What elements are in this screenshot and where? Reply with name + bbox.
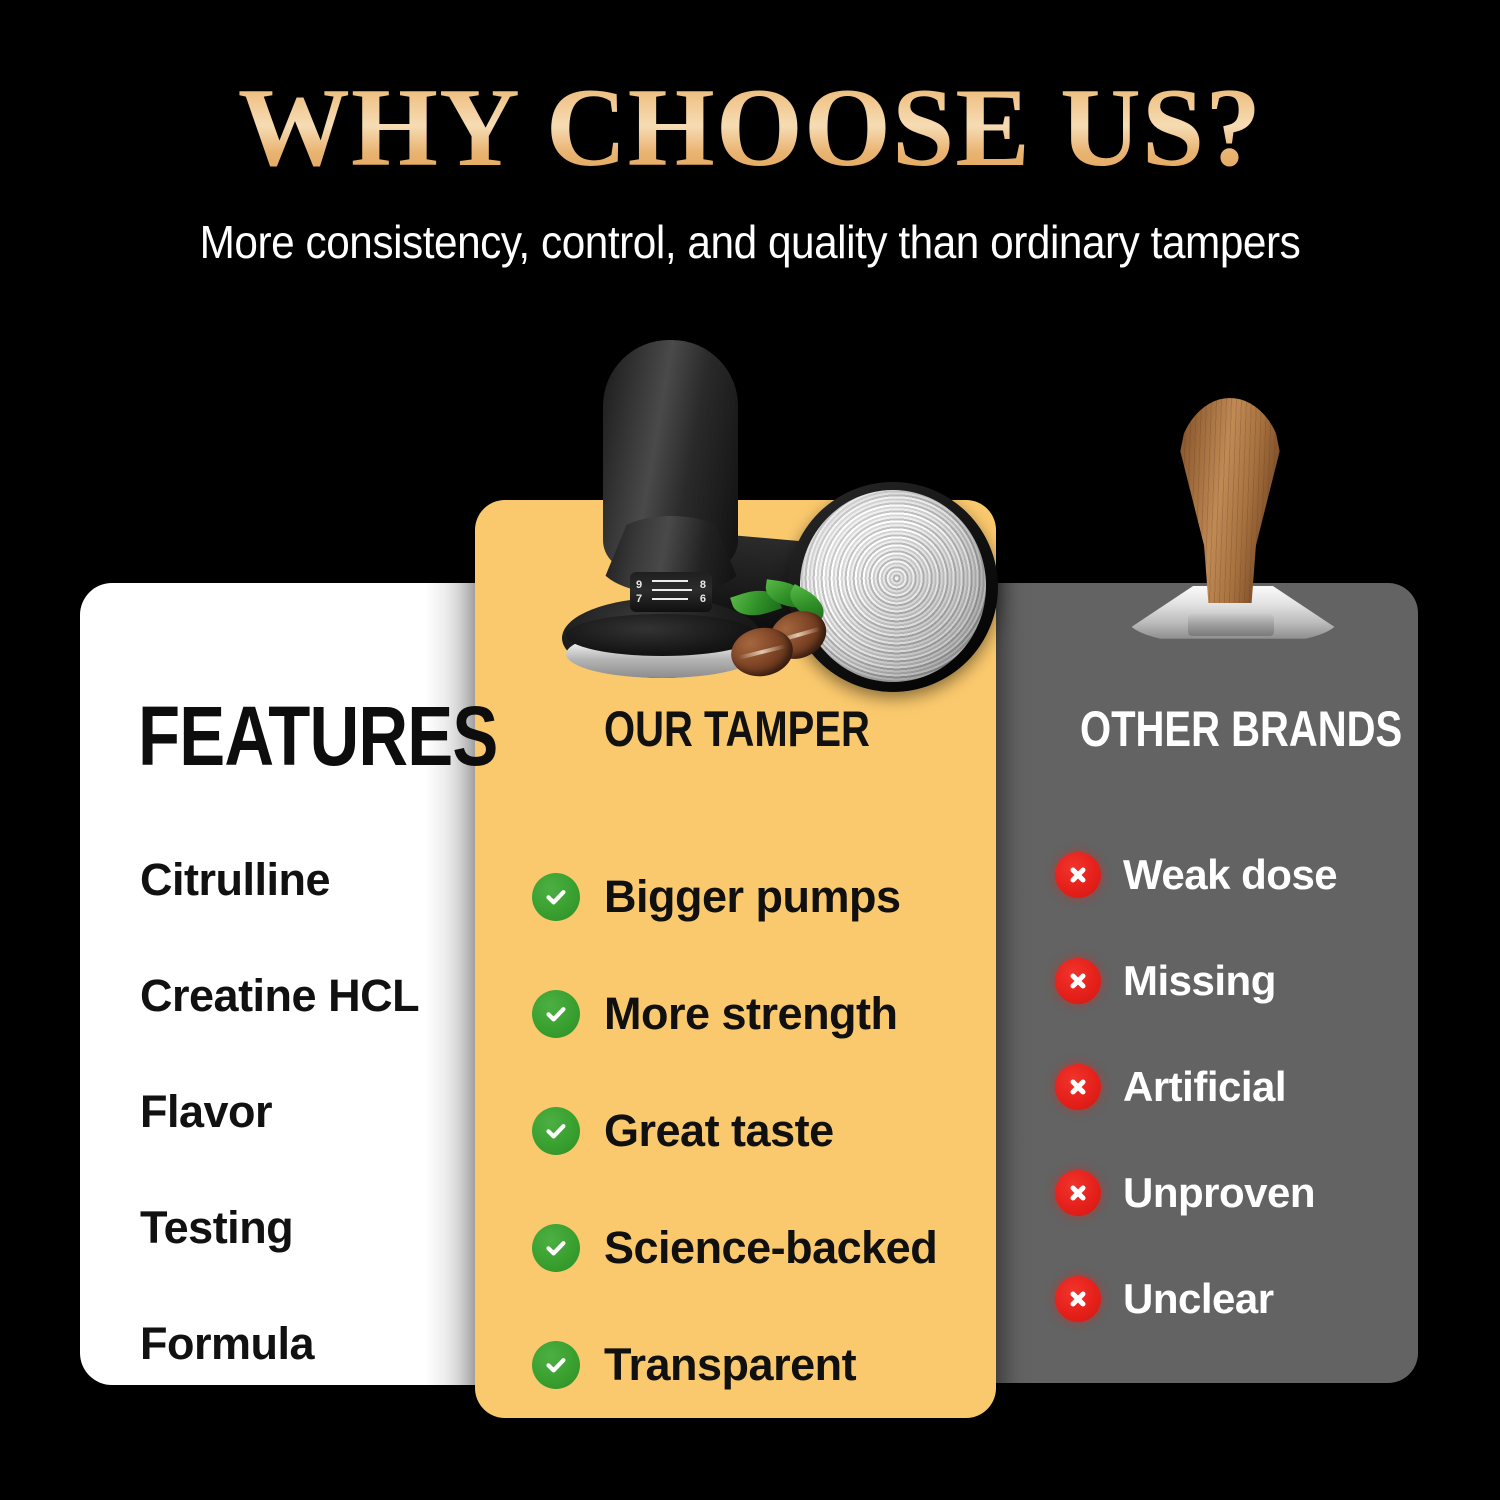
list-item: More strength xyxy=(532,955,972,1072)
feature-label: Testing xyxy=(140,1202,293,1254)
list-item: Weak dose xyxy=(1055,822,1415,928)
list-item: Creatine HCL xyxy=(140,938,480,1054)
dial-number-6: 6 xyxy=(700,594,706,605)
feature-label: Citrulline xyxy=(140,854,330,906)
drawback-label: Artificial xyxy=(1123,1063,1286,1111)
feature-label: Flavor xyxy=(140,1086,272,1138)
x-circle-icon xyxy=(1055,1064,1101,1110)
drawback-label: Weak dose xyxy=(1123,851,1337,899)
list-item: Testing xyxy=(140,1170,480,1286)
header: WHY CHOOSE US? More consistency, control… xyxy=(0,0,1500,300)
list-item: Formula xyxy=(140,1286,480,1402)
features-list: Citrulline Creatine HCL Flavor Testing F… xyxy=(140,822,480,1402)
other-brands-list: Weak dose Missing Artificial Unproven Un… xyxy=(1055,822,1415,1352)
dial-number-9: 9 xyxy=(636,580,642,591)
benefit-label: Science-backed xyxy=(604,1222,937,1274)
x-circle-icon xyxy=(1055,1170,1101,1216)
feature-label: Creatine HCL xyxy=(140,970,419,1022)
x-circle-icon xyxy=(1055,958,1101,1004)
dial-number-7: 7 xyxy=(636,594,642,605)
list-item: Transparent xyxy=(532,1306,972,1423)
wooden-tamper-handle xyxy=(1176,398,1284,603)
benefit-label: Bigger pumps xyxy=(604,871,901,923)
feature-label: Formula xyxy=(140,1318,314,1370)
list-item: Artificial xyxy=(1055,1034,1415,1140)
x-circle-icon xyxy=(1055,1276,1101,1322)
features-column-heading: FEATURES xyxy=(138,688,498,785)
dial-ticks: 9 7 8 6 xyxy=(630,572,712,612)
page-subtitle: More consistency, control, and quality t… xyxy=(60,215,1440,269)
page-title: WHY CHOOSE US? xyxy=(0,72,1500,184)
other-brand-wooden-tamper-image xyxy=(1128,398,1338,648)
check-circle-icon xyxy=(532,1107,580,1155)
coffee-beans-icon xyxy=(725,582,855,692)
benefit-label: More strength xyxy=(604,988,898,1040)
list-item: Flavor xyxy=(140,1054,480,1170)
check-circle-icon xyxy=(532,1224,580,1272)
check-circle-icon xyxy=(532,873,580,921)
our-tamper-column-heading: OUR TAMPER xyxy=(604,700,870,758)
our-tamper-list: Bigger pumps More strength Great taste S… xyxy=(532,838,972,1423)
other-brands-column-heading: OTHER BRANDS xyxy=(1080,700,1402,758)
check-circle-icon xyxy=(532,990,580,1038)
list-item: Bigger pumps xyxy=(532,838,972,955)
tamper-calibration-dial: 9 7 8 6 xyxy=(630,572,712,612)
benefit-label: Transparent xyxy=(604,1339,856,1391)
benefit-label: Great taste xyxy=(604,1105,834,1157)
x-circle-icon xyxy=(1055,852,1101,898)
check-circle-icon xyxy=(532,1341,580,1389)
list-item: Unclear xyxy=(1055,1246,1415,1352)
list-item: Citrulline xyxy=(140,822,480,938)
list-item: Science-backed xyxy=(532,1189,972,1306)
list-item: Great taste xyxy=(532,1072,972,1189)
our-tamper-product-image: 9 7 8 6 xyxy=(540,330,970,700)
drawback-label: Unproven xyxy=(1123,1169,1315,1217)
wooden-tamper-base-band xyxy=(1188,614,1274,636)
list-item: Missing xyxy=(1055,928,1415,1034)
dial-number-8: 8 xyxy=(700,580,706,591)
drawback-label: Unclear xyxy=(1123,1275,1274,1323)
list-item: Unproven xyxy=(1055,1140,1415,1246)
drawback-label: Missing xyxy=(1123,957,1276,1005)
